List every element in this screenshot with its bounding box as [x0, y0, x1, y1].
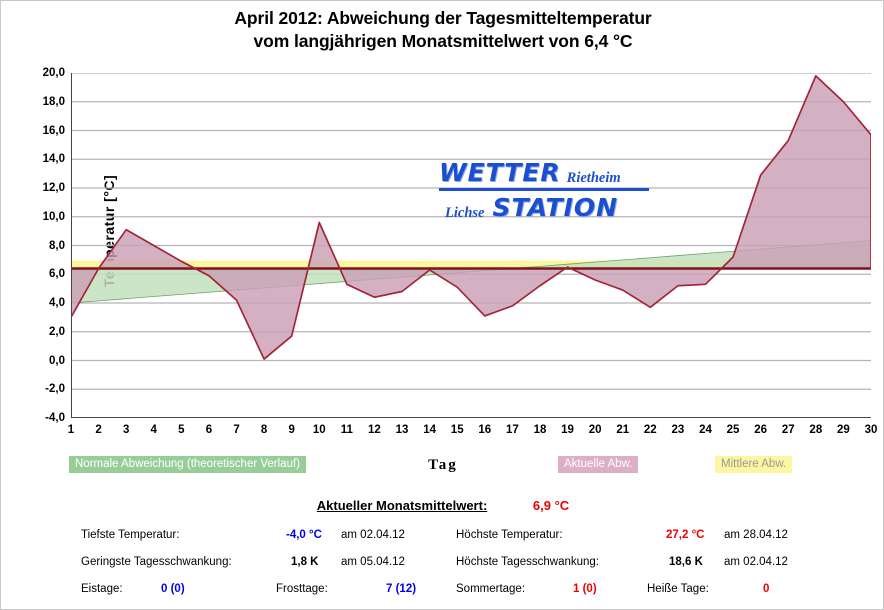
y-tick-label: 14,0 [19, 154, 65, 164]
stat-row-day-counts: Eistage: 0 (0) Frosttage: 7 (12) Sommert… [1, 583, 884, 610]
ice-days-label: Eistage: [81, 583, 123, 595]
x-tick-label: 2 [88, 424, 110, 436]
frost-days-value: 7 (12) [386, 583, 416, 595]
ice-days-value: 0 (0) [161, 583, 185, 595]
frost-days-label: Frosttage: [276, 583, 328, 595]
x-tick-label: 30 [860, 424, 882, 436]
highest-range-date: am 02.04.12 [724, 556, 788, 568]
x-tick-label: 28 [805, 424, 827, 436]
x-tick-label: 24 [694, 424, 716, 436]
y-tick-label: 18,0 [19, 97, 65, 107]
stat-row-temperature-extremes: Tiefste Temperatur: -4,0 °C am 02.04.12 … [1, 529, 884, 556]
y-tick-label: -4,0 [19, 413, 65, 423]
title-line-1: April 2012: Abweichung der Tagesmittelte… [1, 7, 884, 30]
chart-page: April 2012: Abweichung der Tagesmittelte… [0, 0, 884, 610]
x-tick-label: 1 [60, 424, 82, 436]
stat-row-daily-range: Geringste Tagesschwankung: 1,8 K am 05.0… [1, 556, 884, 583]
x-tick-label: 20 [584, 424, 606, 436]
lowest-range-value: 1,8 K [291, 556, 319, 568]
y-tick-label: 12,0 [19, 183, 65, 193]
y-tick-label: 20,0 [19, 68, 65, 78]
lowest-range-label: Geringste Tagesschwankung: [81, 556, 232, 568]
lowest-temp-date: am 02.04.12 [341, 529, 405, 541]
lowest-temp-label: Tiefste Temperatur: [81, 529, 179, 541]
x-tick-label: 8 [253, 424, 275, 436]
highest-temp-label: Höchste Temperatur: [456, 529, 563, 541]
x-tick-label: 11 [336, 424, 358, 436]
y-tick-label: 8,0 [19, 241, 65, 251]
x-tick-label: 3 [115, 424, 137, 436]
x-tick-label: 29 [832, 424, 854, 436]
y-tick-label: 16,0 [19, 126, 65, 136]
monthly-mean-label: Aktueller Monatsmittelwert: [317, 498, 487, 513]
x-tick-label: 4 [143, 424, 165, 436]
legend-item-normale-abweichung: Normale Abweichung (theoretischer Verlau… [69, 456, 306, 473]
y-tick-label: 10,0 [19, 212, 65, 222]
x-tick-label: 7 [226, 424, 248, 436]
x-tick-label: 13 [391, 424, 413, 436]
statistics-block: Aktueller Monatsmittelwert: 6,9 °C Tiefs… [1, 498, 884, 610]
y-tick-label: 2,0 [19, 327, 65, 337]
x-tick-label: 22 [639, 424, 661, 436]
title-line-2: vom langjährigen Monatsmittelwert von 6,… [1, 30, 884, 53]
y-tick-label: 0,0 [19, 356, 65, 366]
legend-item-aktuelle-abweichung: Aktuelle Abw. [558, 456, 638, 473]
x-tick-label: 27 [777, 424, 799, 436]
monthly-mean-row: Aktueller Monatsmittelwert: 6,9 °C [1, 498, 884, 513]
x-tick-label: 26 [750, 424, 772, 436]
highest-range-value: 18,6 K [669, 556, 703, 568]
summer-days-label: Sommertage: [456, 583, 525, 595]
lowest-temp-value: -4,0 °C [286, 529, 322, 541]
x-tick-label: 14 [419, 424, 441, 436]
highest-temp-value: 27,2 °C [666, 529, 704, 541]
x-tick-label: 16 [474, 424, 496, 436]
chart-legend: Normale Abweichung (theoretischer Verlau… [1, 456, 884, 476]
x-tick-label: 5 [170, 424, 192, 436]
x-tick-label: 6 [198, 424, 220, 436]
x-tick-label: 10 [308, 424, 330, 436]
x-tick-label: 21 [612, 424, 634, 436]
hot-days-value: 0 [763, 583, 769, 595]
x-tick-label: 25 [722, 424, 744, 436]
x-tick-label: 9 [281, 424, 303, 436]
x-tick-label: 23 [667, 424, 689, 436]
highest-temp-date: am 28.04.12 [724, 529, 788, 541]
x-tick-label: 19 [557, 424, 579, 436]
hot-days-label: Heiße Tage: [647, 583, 709, 595]
x-tick-label: 15 [446, 424, 468, 436]
y-tick-label: -2,0 [19, 384, 65, 394]
highest-range-label: Höchste Tagesschwankung: [456, 556, 599, 568]
y-tick-label: 4,0 [19, 298, 65, 308]
summer-days-value: 1 (0) [573, 583, 597, 595]
lowest-range-date: am 05.04.12 [341, 556, 405, 568]
y-tick-label: 6,0 [19, 269, 65, 279]
x-tick-label: 18 [529, 424, 551, 436]
page-title: April 2012: Abweichung der Tagesmittelte… [1, 7, 884, 53]
chart-plot-area: Temperatur [°C] 20,018,016,014,012,010,0… [71, 73, 871, 418]
x-tick-label: 17 [501, 424, 523, 436]
deviation-area-chart [71, 73, 871, 418]
x-tick-label: 12 [363, 424, 385, 436]
legend-item-mittlere-abweichung: Mittlere Abw. [715, 456, 792, 473]
monthly-mean-value: 6,9 °C [533, 498, 569, 513]
